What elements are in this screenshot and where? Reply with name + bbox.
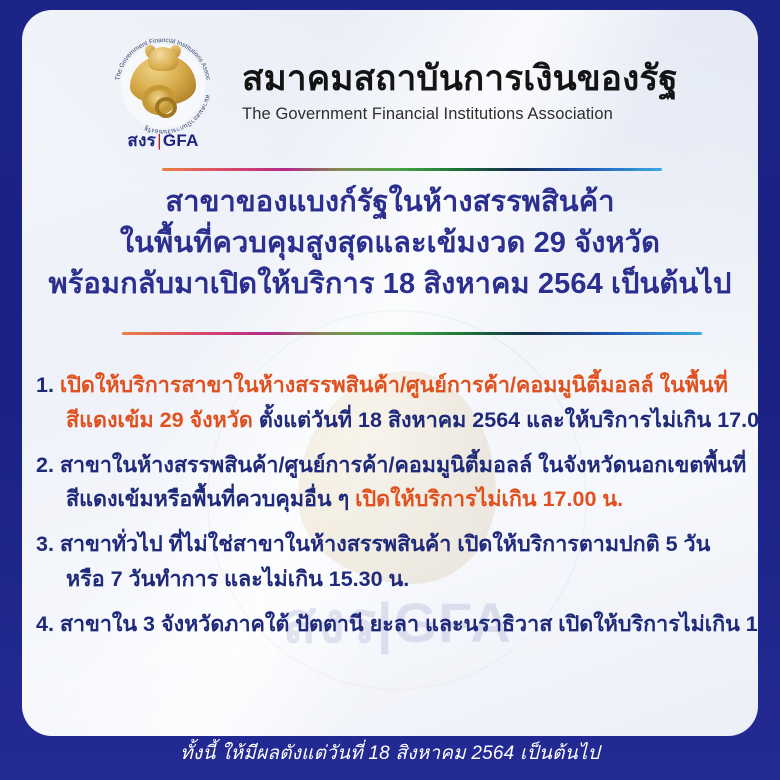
org-name-english: The Government Financial Institutions As… [242, 105, 678, 124]
header-text-block: สมาคมสถาบันการเงินของรัฐ The Government … [242, 60, 678, 124]
item-1-text-b: ตั้งแต่วันที่ 18 สิงหาคม 2564 และให้บริก… [259, 408, 758, 432]
item-1-line-2: สีแดงเข้ม 29 จังหวัด ตั้งแต่วันที่ 18 สิ… [36, 403, 744, 438]
logo-label: สงร|GFA [102, 127, 224, 154]
item-4-line-1: 4. สาขาใน 3 จังหวัดภาคใต้ ปัตตานี ยะลา แ… [36, 607, 744, 642]
content-card: สงร|GFA The Government Financial Institu… [22, 10, 758, 736]
title-line-3: พร้อมกลับมาเปิดให้บริการ 18 สิงหาคม 2564… [22, 264, 758, 305]
item-2-highlight: เปิดให้บริการไม่เกิน 17.00 น. [355, 487, 623, 511]
page-title: สาขาของแบงก์รัฐในห้างสรรพสินค้า ในพื้นที… [22, 182, 758, 306]
item-1-highlight: สีแดงเข้ม 29 จังหวัด [66, 408, 253, 432]
item-3-text-b: หรือ 7 วันทำการ และไม่เกิน 15.30 น. [66, 567, 409, 591]
item-4-number: 4. [36, 612, 54, 636]
announcement-list: 1. เปิดให้บริการสาขาในห้างสรรพสินค้า/ศูน… [36, 368, 744, 649]
logo-label-en: GFA [163, 131, 199, 150]
title-line-1: สาขาของแบงก์รัฐในห้างสรรพสินค้า [22, 182, 758, 223]
divider-middle [122, 332, 702, 335]
footer-note: ทั้งนี้ ให้มีผลตังแต่วันที่ 18 สิงหาคม 2… [0, 738, 780, 768]
item-1-text-a: เปิดให้บริการสาขาในห้างสรรพสินค้า/ศูนย์ก… [60, 373, 728, 397]
gfa-logo: The Government Financial Institutions As… [102, 31, 224, 153]
logo-label-th: สงร [127, 131, 156, 150]
list-item: 4. สาขาใน 3 จังหวัดภาคใต้ ปัตตานี ยะลา แ… [36, 607, 744, 642]
title-line-2: ในพื้นที่ควบคุมสูงสุดและเข้มงวด 29 จังหว… [22, 223, 758, 264]
item-3-text-a: สาขาทั่วไป ที่ไม่ใช่สาขาในห้างสรรพสินค้า… [60, 532, 710, 556]
item-2-line-1: 2. สาขาในห้างสรรพสินค้า/ศูนย์การค้า/คอมม… [36, 448, 744, 483]
header: The Government Financial Institutions As… [22, 28, 758, 156]
list-item: 2. สาขาในห้างสรรพสินค้า/ศูนย์การค้า/คอมม… [36, 448, 744, 518]
org-name-thai: สมาคมสถาบันการเงินของรัฐ [242, 60, 678, 99]
figure-coil [142, 85, 176, 115]
list-item: 1. เปิดให้บริการสาขาในห้างสรรพสินค้า/ศูน… [36, 368, 744, 438]
item-3-line-1: 3. สาขาทั่วไป ที่ไม่ใช่สาขาในห้างสรรพสิน… [36, 527, 744, 562]
item-1-line-1: 1. เปิดให้บริการสาขาในห้างสรรพสินค้า/ศูน… [36, 368, 744, 403]
item-3-number: 3. [36, 532, 54, 556]
item-4-text-a: สาขาใน 3 จังหวัดภาคใต้ ปัตตานี ยะลา และน… [60, 612, 758, 636]
figure-head [148, 47, 178, 71]
item-2-text-b: สีแดงเข้มหรือพื้นที่ควบคุมอื่น ๆ [66, 487, 349, 511]
item-2-line-2: สีแดงเข้มหรือพื้นที่ควบคุมอื่น ๆ เปิดให้… [36, 482, 744, 517]
logo-label-separator: | [157, 131, 162, 150]
singha-figure-icon [126, 45, 200, 117]
item-2-number: 2. [36, 453, 54, 477]
divider-top [162, 168, 662, 171]
item-1-number: 1. [36, 373, 54, 397]
poster-root: สงร|GFA The Government Financial Institu… [0, 0, 780, 780]
item-2-text-a: สาขาในห้างสรรพสินค้า/ศูนย์การค้า/คอมมูนิ… [60, 453, 746, 477]
list-item: 3. สาขาทั่วไป ที่ไม่ใช่สาขาในห้างสรรพสิน… [36, 527, 744, 597]
item-3-line-2: หรือ 7 วันทำการ และไม่เกิน 15.30 น. [36, 562, 744, 597]
